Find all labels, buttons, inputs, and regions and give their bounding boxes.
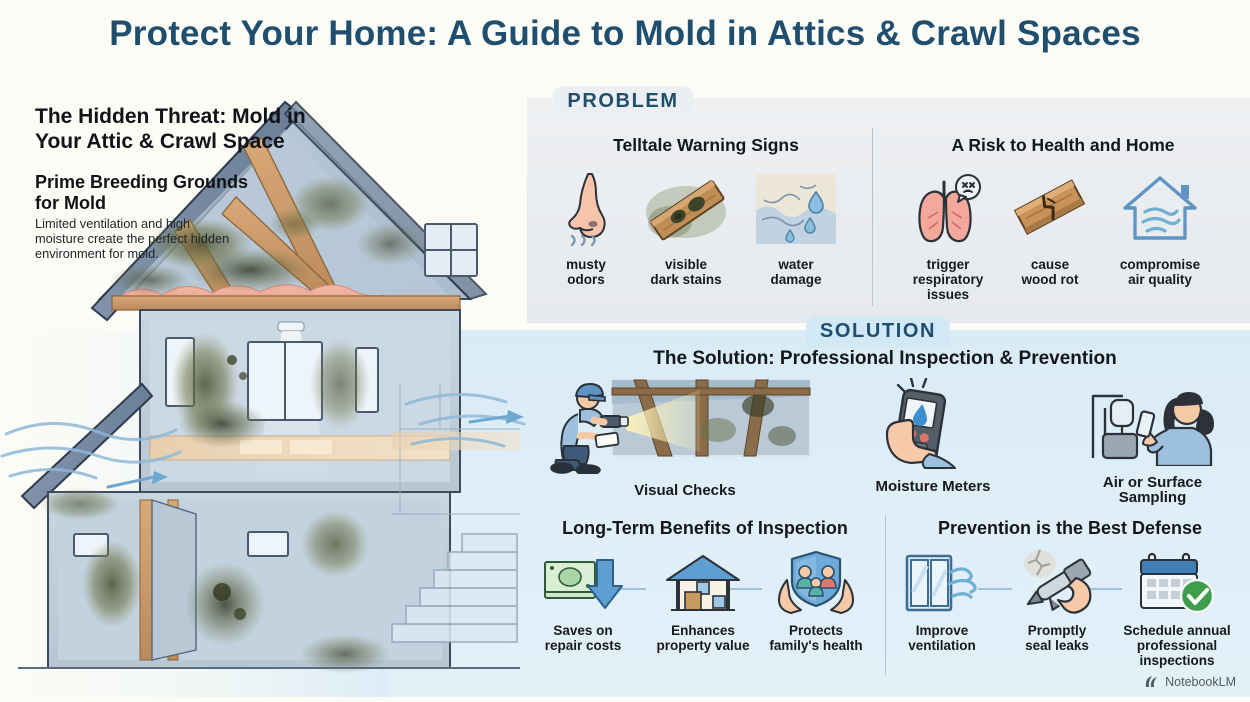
warning-sign-musty-odors: musty odors	[541, 170, 631, 287]
benefit-saves-repair-costs: Saves on repair costs	[535, 552, 631, 653]
method-caption: Moisture Meters	[868, 479, 998, 494]
risk-to-health-heading: A Risk to Health and Home	[898, 135, 1228, 156]
risk-air-quality: compromise air quality	[1108, 168, 1212, 287]
inspector-flashlight-icon	[550, 374, 820, 474]
prevention-heading: Prevention is the Best Defense	[900, 518, 1240, 539]
method-caption: Visual Checks	[545, 483, 825, 498]
long-term-benefits-heading: Long-Term Benefits of Inspection	[530, 518, 880, 539]
method-moisture-meters: Moisture Meters	[868, 378, 998, 494]
watermark-label: NotebookLM	[1165, 675, 1236, 689]
lab-sampling-icon	[1083, 376, 1223, 466]
risk-wood-rot: cause wood rot	[1006, 168, 1094, 287]
infographic-canvas: Protect Your Home: A Guide to Mold in At…	[0, 0, 1250, 697]
benefit-caption: Saves on repair costs	[535, 623, 631, 653]
risk-caption: cause wood rot	[1006, 257, 1094, 287]
money-down-arrow-icon	[541, 552, 625, 614]
problem-tab[interactable]: PROBLEM	[553, 86, 693, 118]
method-air-surface-sampling: Air or Surface Sampling	[1075, 376, 1230, 505]
notebooklm-logo-icon	[1144, 675, 1160, 689]
house-airflow-icon	[1119, 168, 1201, 248]
prevention-caption: Improve ventilation	[898, 623, 986, 653]
prevention-annual-inspections: Schedule annual professional inspections	[1112, 552, 1242, 668]
risk-caption: compromise air quality	[1108, 257, 1212, 287]
benefit-enhances-property-value: Enhances property value	[648, 552, 758, 653]
warning-sign-dark-stains: visible dark stains	[640, 170, 732, 287]
prevention-improve-ventilation: Improve ventilation	[898, 552, 986, 653]
lungs-icon	[908, 168, 988, 248]
warning-sign-caption: water damage	[750, 257, 842, 287]
benefit-protects-family-health: Protects family's health	[760, 550, 872, 653]
risk-caption: trigger respiratory issues	[900, 257, 996, 302]
solution-tab[interactable]: SOLUTION	[806, 316, 950, 348]
water-damage-icon	[754, 170, 838, 248]
caulk-gun-icon	[1014, 548, 1100, 614]
page-title: Protect Your Home: A Guide to Mold in At…	[0, 14, 1250, 54]
solution-main-heading: The Solution: Professional Inspection & …	[520, 348, 1250, 370]
nose-smell-icon	[558, 170, 614, 248]
calendar-check-icon	[1135, 552, 1219, 614]
method-visual-checks: Visual Checks	[545, 374, 825, 498]
warning-sign-caption: musty odors	[541, 257, 631, 287]
warning-sign-caption: visible dark stains	[640, 257, 732, 287]
moisture-meter-icon	[877, 378, 989, 470]
benefit-caption: Enhances property value	[648, 623, 758, 653]
house-value-icon	[663, 552, 743, 614]
benefit-caption: Protects family's health	[760, 623, 872, 653]
warning-sign-water-damage: water damage	[750, 170, 842, 287]
method-caption: Air or Surface Sampling	[1075, 475, 1230, 505]
hidden-threat-heading: The Hidden Threat: Mold in Your Attic & …	[35, 104, 335, 154]
telltale-warning-signs-heading: Telltale Warning Signs	[556, 135, 856, 156]
cracked-beam-icon	[1010, 168, 1090, 248]
window-ventilation-icon	[901, 552, 983, 614]
family-shield-hands-icon	[773, 550, 859, 614]
moldy-wood-plank-icon	[640, 170, 732, 248]
solution-bottom-column-divider	[885, 515, 886, 675]
notebooklm-watermark: NotebookLM	[1144, 675, 1236, 689]
problem-column-divider	[872, 128, 873, 306]
prevention-caption: Schedule annual professional inspections	[1112, 623, 1242, 668]
prime-breeding-heading: Prime Breeding Grounds for Mold	[35, 172, 265, 214]
prevention-caption: Promptly seal leaks	[1012, 623, 1102, 653]
prime-breeding-body: Limited ventilation and high moisture cr…	[35, 216, 235, 261]
risk-respiratory-issues: trigger respiratory issues	[900, 168, 996, 302]
prevention-seal-leaks: Promptly seal leaks	[1012, 548, 1102, 653]
